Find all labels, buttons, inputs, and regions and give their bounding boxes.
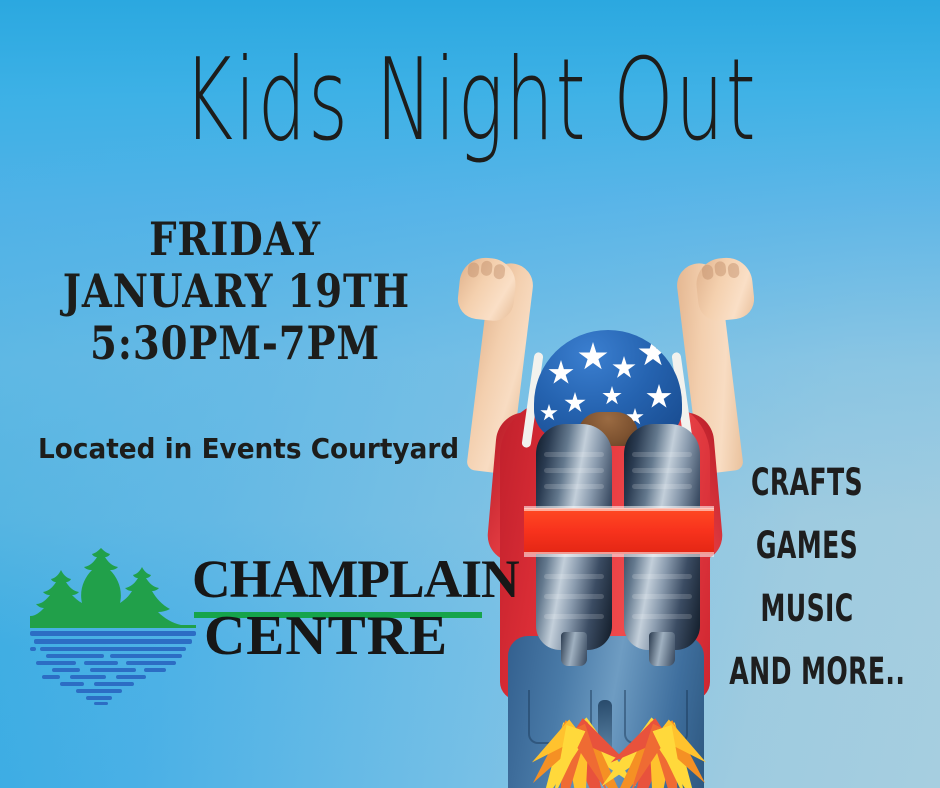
helmet-star bbox=[578, 342, 608, 372]
feature-item: CRAFTS bbox=[729, 464, 884, 501]
logo-mark-svg bbox=[30, 548, 196, 706]
bottle-rib bbox=[544, 484, 604, 489]
bottle-rib bbox=[632, 468, 692, 473]
logo-name-centre: CENTRE bbox=[204, 610, 488, 663]
raised-fist-right bbox=[694, 255, 756, 323]
feature-item: GAMES bbox=[729, 527, 884, 564]
bottle-rib bbox=[632, 452, 692, 457]
bottle-rib bbox=[632, 594, 692, 599]
helmet-star bbox=[638, 338, 668, 368]
pine-trees-water-icon bbox=[30, 548, 196, 706]
helmet-star bbox=[646, 384, 672, 410]
event-datetime-block: FRIDAY JANUARY 19TH 5:30PM-7PM bbox=[63, 214, 407, 370]
flyer-title: Kids Night Out bbox=[94, 34, 846, 166]
bottle-rib bbox=[544, 468, 604, 473]
helmet-star bbox=[564, 392, 586, 414]
bottle-rib bbox=[632, 484, 692, 489]
event-date: JANUARY 19TH bbox=[63, 266, 407, 318]
bottle-rib bbox=[632, 574, 692, 579]
feature-list: CRAFTS GAMES MUSIC AND MORE.. bbox=[702, 466, 912, 718]
helmet-star bbox=[548, 360, 574, 386]
event-day: FRIDAY bbox=[63, 214, 407, 266]
bottle-rib bbox=[544, 452, 604, 457]
flyer-canvas: Kids Night Out FRIDAY JANUARY 19TH 5:30P… bbox=[0, 0, 940, 788]
event-time: 5:30PM-7PM bbox=[63, 318, 407, 370]
helmet-star bbox=[602, 386, 622, 406]
logo-wordmark: CHAMPLAIN CENTRE bbox=[192, 554, 482, 662]
bottle-rib bbox=[544, 574, 604, 579]
helmet-star bbox=[612, 356, 636, 380]
bottle-rib bbox=[544, 594, 604, 599]
red-tape-strap bbox=[524, 508, 714, 554]
feature-item: MUSIC bbox=[729, 590, 884, 627]
logo-name-champlain: CHAMPLAIN bbox=[192, 554, 479, 605]
event-location: Located in Events Courtyard bbox=[38, 432, 414, 465]
champlain-centre-logo: CHAMPLAIN CENTRE bbox=[30, 548, 480, 706]
helmet-star bbox=[540, 404, 558, 422]
feature-item: AND MORE.. bbox=[729, 653, 884, 690]
